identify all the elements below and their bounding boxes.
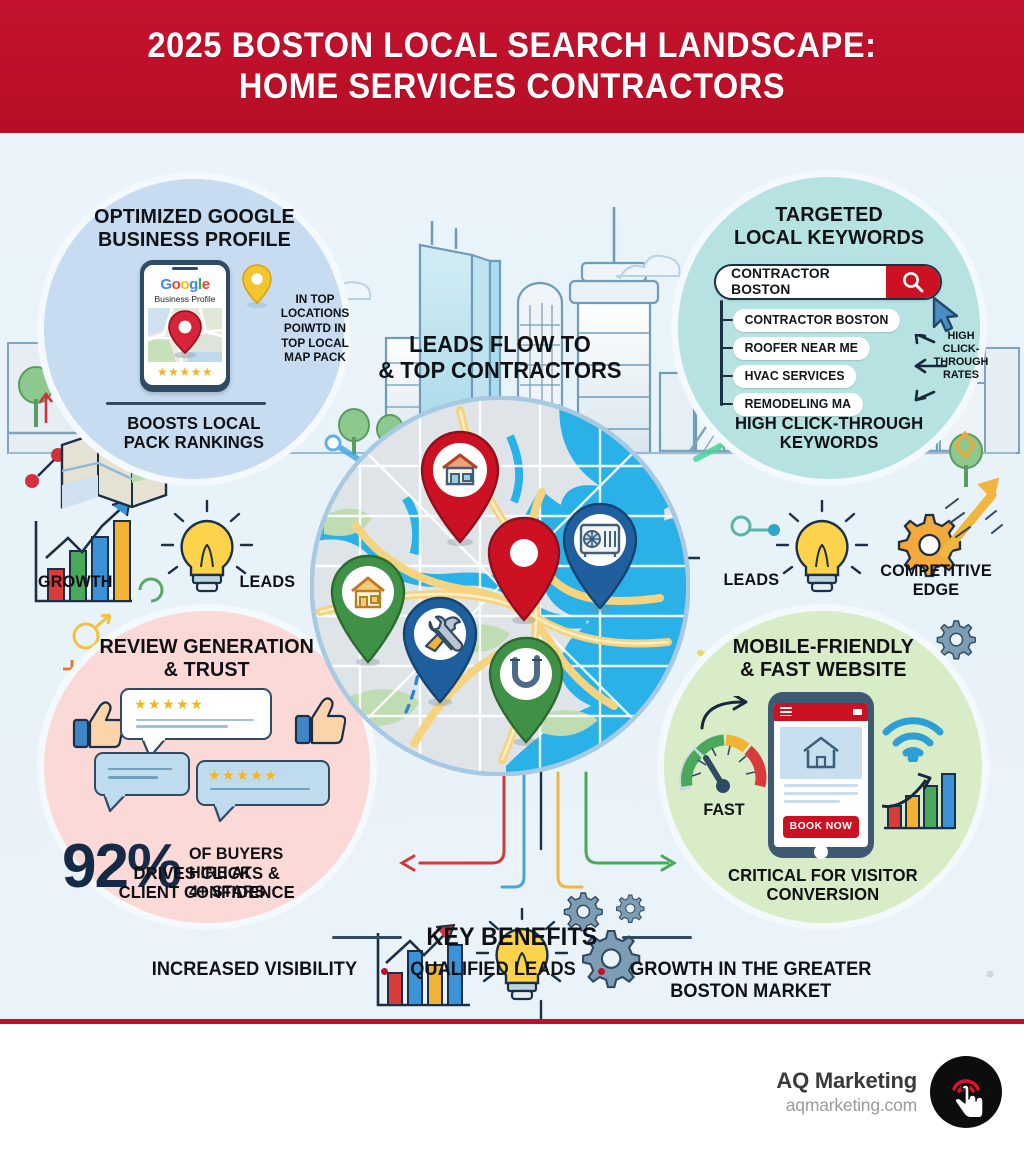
list-item[interactable]: CONTRACTOR BOSTON (720, 308, 952, 333)
lightbulb-icon-right (777, 501, 867, 591)
house-icon (801, 736, 841, 770)
card-footer-gbp: BOOSTS LOCAL PACK RANKINGS (124, 414, 264, 453)
key-benefit-item: INCREASED VISIBILITY (151, 959, 356, 981)
boston-map[interactable] (310, 396, 690, 776)
key-benefit-item: GROWTH IN THE GREATER BOSTON MARKET (630, 959, 871, 1003)
wifi-icon (880, 710, 946, 762)
growth-bars-icon (882, 766, 958, 832)
mobile-text-line (784, 792, 858, 795)
title-line-1: 2025 BOSTON LOCAL SEARCH LANDSCAPE: (147, 26, 876, 65)
search-bar[interactable]: CONTRACTOR BOSTON (714, 264, 942, 300)
suggestion-label[interactable]: ROOFER NEAR ME (733, 337, 870, 360)
label-competitive-edge: COMPETITIVE EDGE (870, 561, 1003, 600)
review-text-line (108, 776, 158, 779)
gbp-card-body: Google Business Profile (44, 252, 344, 414)
hamburger-menu-icon[interactable] (780, 705, 792, 718)
phone-minimap (148, 308, 222, 362)
review-stars: ★★★★★ (134, 697, 270, 711)
bullet-dot (598, 968, 605, 975)
curved-arrow-icon (698, 696, 756, 730)
card-title-keywords: TARGETED LOCAL KEYWORDS (734, 203, 924, 250)
search-button[interactable] (886, 266, 940, 298)
footer-bar: AQ Marketing aqmarketing.com (0, 1029, 1024, 1154)
phone-notch (172, 267, 198, 270)
card-mobile-friendly-fast-website[interactable]: MOBILE-FRIENDLY & FAST WEBSITE FAST (664, 611, 982, 923)
thumbs-up-icon (72, 700, 124, 750)
bubble-tail (102, 794, 128, 812)
key-benefits-heading: KEY BENEFITS (426, 923, 597, 952)
review-text-line (108, 768, 172, 771)
tap-hand-icon (941, 1067, 991, 1117)
label-leads-left: LEADS (239, 572, 295, 591)
speed-label: FAST (690, 800, 758, 820)
review-text-line (210, 788, 310, 791)
card-footer-mobile: CRITICAL FOR VISITOR CONVERSION (728, 866, 918, 905)
search-icon (901, 270, 925, 294)
gbp-star-rating: ★★★★★ (157, 366, 213, 378)
google-business-profile-subtitle: Business Profile (155, 294, 216, 304)
mobile-website-mockup: BOOK NOW (768, 692, 874, 858)
label-leads-right: LEADS (723, 570, 779, 589)
suggestion-tick (720, 375, 733, 377)
brand-name: AQ Marketing (776, 1068, 917, 1094)
search-input-value[interactable]: CONTRACTOR BOSTON (719, 266, 884, 298)
yellow-map-pin-icon (240, 264, 274, 308)
infographic-canvas: OPTIMIZED GOOGLE BUSINESS PROFILE Google… (0, 133, 1024, 1024)
divider-right (622, 936, 692, 939)
bubble-tail (212, 804, 238, 822)
label-growth: GROWTH (38, 572, 113, 591)
google-business-profile-phone-mockup: Google Business Profile (140, 260, 230, 392)
key-benefits-heading-row: KEY BENEFITS (0, 923, 1024, 952)
key-benefit-item: QUALIFIED LEADS (410, 959, 576, 981)
suggestion-tick (720, 403, 733, 405)
book-now-button[interactable]: BOOK NOW (783, 816, 859, 838)
page-title: 2025 BOSTON LOCAL SEARCH LANDSCAPE: HOME… (147, 26, 876, 108)
review-bubble-white: ★★★★★ (120, 688, 272, 740)
center-map-title: LEADS FLOW TO & TOP CONTRACTORS (339, 331, 662, 383)
mobile-text-line (784, 784, 858, 787)
review-bubble-blue-small (94, 752, 190, 796)
mobile-card-body: FAST (664, 682, 982, 866)
gbp-divider (106, 402, 266, 405)
suggestion-tick (720, 319, 733, 321)
brand-url[interactable]: aqmarketing.com (776, 1095, 917, 1116)
title-line-2: HOME SERVICES CONTRACTORS (239, 67, 785, 106)
card-targeted-local-keywords[interactable]: TARGETED LOCAL KEYWORDS CONTRACTOR BOSTO… (678, 177, 980, 479)
card-title-gbp: OPTIMIZED GOOGLE BUSINESS PROFILE (94, 205, 295, 252)
keywords-card-body: CONTRACTOR BOSTON CONTRACTOR BOSTON ROOF… (678, 250, 980, 414)
card-title-reviews: REVIEW GENERATION & TRUST (100, 635, 314, 682)
suggestion-tick (720, 347, 733, 349)
brand-logo[interactable] (930, 1056, 1002, 1128)
review-text-line (136, 725, 228, 728)
ctr-note-label: HIGH CLICK- THROUGH RATES (932, 330, 991, 383)
mobile-hero-image (780, 727, 862, 779)
suggestion-label[interactable]: CONTRACTOR BOSTON (733, 309, 900, 332)
google-logo: Google (160, 276, 209, 293)
review-text-line (136, 719, 254, 722)
key-benefits-list: INCREASED VISIBILITY QUALIFIED LEADS GRO… (0, 959, 1024, 1003)
card-footer-reviews: DRIVES CLICKS & CLIENT CONFIDENCE (119, 864, 295, 903)
mobile-text-line (784, 800, 840, 803)
bullet-dot (381, 968, 388, 975)
mobile-nav-bar (774, 703, 868, 721)
brand-block: AQ Marketing aqmarketing.com (776, 1068, 917, 1116)
header-banner: 2025 BOSTON LOCAL SEARCH LANDSCAPE: HOME… (0, 0, 1024, 133)
card-optimized-google-business-profile[interactable]: OPTIMIZED GOOGLE BUSINESS PROFILE Google… (44, 179, 344, 479)
nav-badge-icon (853, 709, 862, 715)
card-footer-keywords: HIGH CLICK-THROUGH KEYWORDS (735, 414, 923, 453)
card-title-mobile: MOBILE-FRIENDLY & FAST WEBSITE (732, 635, 913, 682)
divider-left (332, 936, 402, 939)
air-conditioner-icon (581, 525, 619, 557)
speed-gauge-icon (678, 724, 770, 798)
phone-home-button (814, 845, 828, 859)
suggestion-label[interactable]: HVAC SERVICES (733, 365, 856, 388)
